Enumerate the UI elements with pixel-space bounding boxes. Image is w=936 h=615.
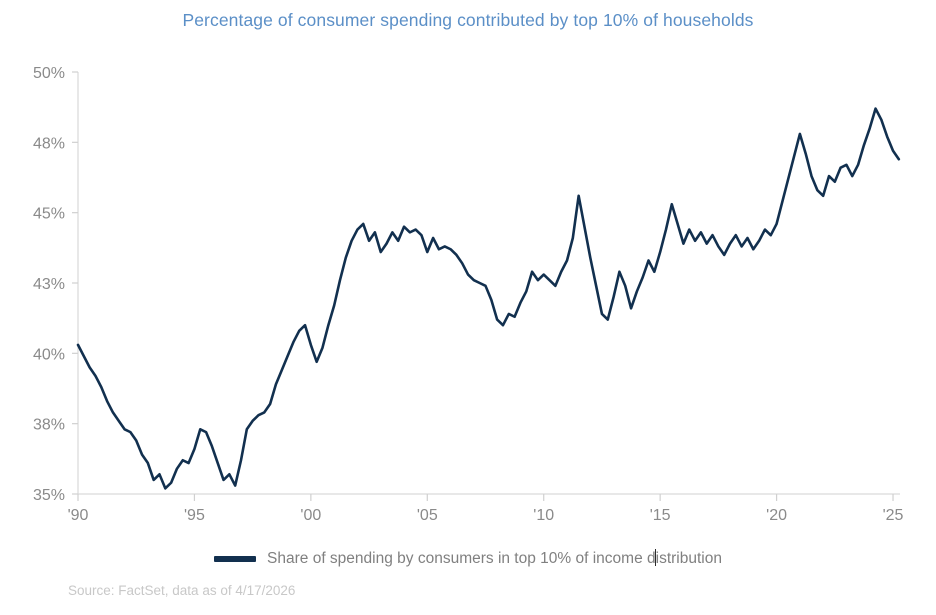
legend-item-label[interactable]: Share of spending by consumers in top 10… [267,549,722,568]
y-tick-label: 40% [33,346,65,363]
y-tick-label: 45% [33,206,65,223]
legend-color-swatch [214,556,256,562]
x-tick-label: '05 [417,507,438,524]
x-tick-label: '95 [184,507,205,524]
legend-label-text-after-caret: istribution [656,550,722,567]
y-tick-label: 50% [33,65,65,82]
x-tick-label: '00 [300,507,321,524]
y-tick-label: 38% [33,417,65,434]
chart-legend: Share of spending by consumers in top 10… [0,549,936,568]
series-line [78,109,899,489]
y-tick-label: 35% [33,487,65,504]
source-note: Source: FactSet, data as of 4/17/2026 [68,583,295,598]
y-tick-label: 48% [33,135,65,152]
x-tick-label: '20 [766,507,787,524]
chart-container: Percentage of consumer spending contribu… [0,0,936,615]
x-tick-label: '15 [650,507,671,524]
series-layer [78,109,899,489]
y-axis: 35%38%40%43%45%48%50% [33,65,78,504]
legend-label-text-before-caret: Share of spending by consumers in top 10… [267,550,656,567]
chart-plot-area: 35%38%40%43%45%48%50% '90'95'00'05'10'15… [0,0,936,615]
y-tick-label: 43% [33,276,65,293]
x-tick-label: '25 [883,507,904,524]
x-axis: '90'95'00'05'10'15'20'25 [68,494,904,524]
x-tick-label: '10 [533,507,554,524]
x-tick-label: '90 [68,507,89,524]
